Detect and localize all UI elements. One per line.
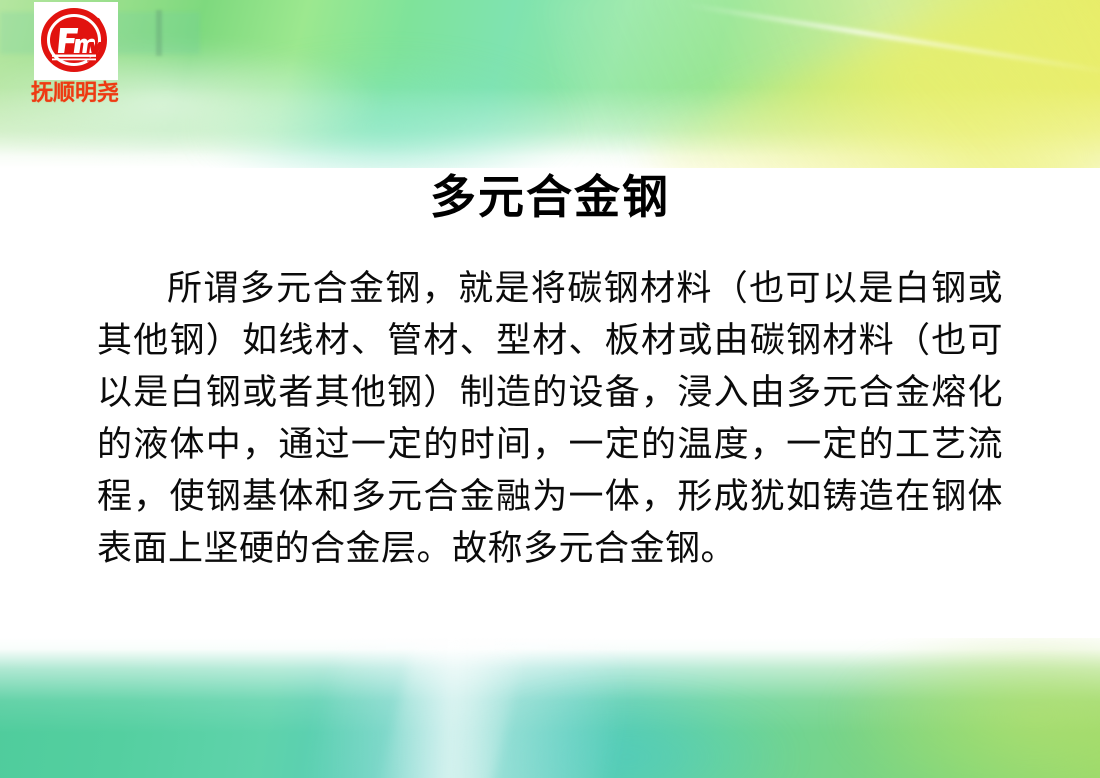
top-decorative-banner: [0, 0, 1100, 168]
slide-title: 多元合金钢: [0, 150, 1100, 225]
logo-mark-plate: [34, 2, 118, 80]
fmy-circle-logo-icon: [40, 8, 112, 74]
bottom-banner-green-glow: [836, 638, 1100, 778]
slide-content: 多元合金钢 所谓多元合金钢，就是将碳钢材料（也可以是白钢或其他钢）如线材、管材、…: [0, 150, 1100, 575]
logo-company-name: 抚顺明尧: [16, 82, 134, 106]
company-logo: 抚顺明尧: [16, 2, 134, 106]
bottom-decorative-banner: [0, 638, 1100, 778]
slide-body-paragraph: 所谓多元合金钢，就是将碳钢材料（也可以是白钢或其他钢）如线材、管材、型材、板材或…: [97, 263, 1003, 575]
presentation-slide: 抚顺明尧 多元合金钢 所谓多元合金钢，就是将碳钢材料（也可以是白钢或其他钢）如线…: [0, 0, 1100, 778]
top-banner-artifact-bar: [156, 10, 162, 56]
